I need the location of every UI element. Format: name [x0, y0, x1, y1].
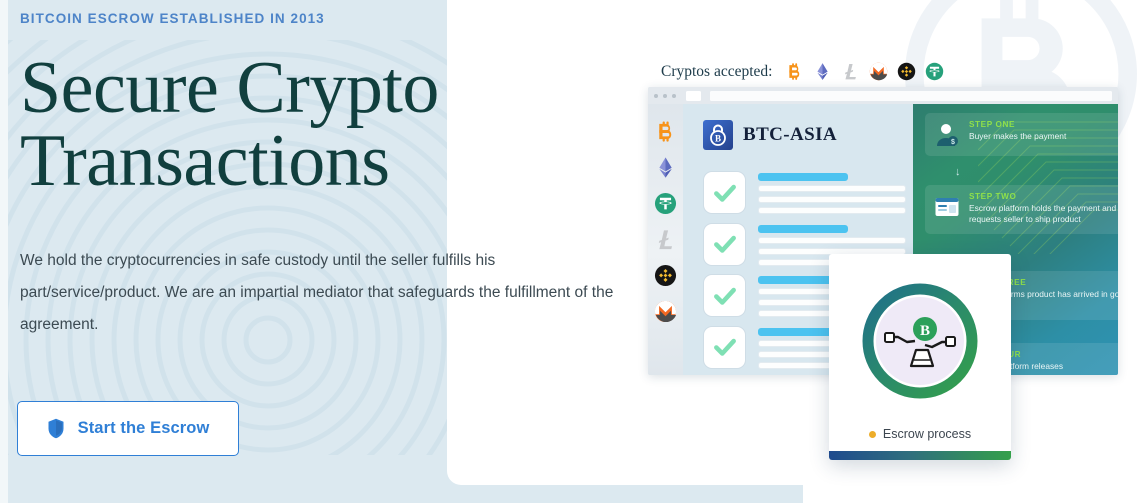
page-title: Secure Crypto Transactions: [20, 52, 580, 197]
browser-url-bar[interactable]: [710, 91, 1112, 101]
browser-tab[interactable]: [686, 91, 701, 101]
ethereum-icon: [813, 62, 832, 81]
row-heading-bar: [758, 225, 848, 233]
monero-icon: [869, 62, 888, 81]
card-accent-bar: [829, 451, 1011, 460]
app-brand: B BTC-ASIA: [703, 120, 837, 150]
start-escrow-label: Start the Escrow: [78, 419, 210, 438]
window-dot-3: [672, 94, 676, 98]
step-two-title: STEP TWO: [969, 192, 1118, 201]
window-dot-2: [663, 94, 667, 98]
start-escrow-button[interactable]: Start the Escrow: [17, 401, 239, 456]
escrow-card-footer: Escrow process: [829, 427, 1011, 441]
check-icon[interactable]: [703, 274, 746, 317]
headline-line-2: Transactions: [20, 125, 580, 198]
row-heading-bar: [758, 173, 848, 181]
sidebar-binance-icon[interactable]: [654, 264, 677, 287]
window-dot-1: [654, 94, 658, 98]
browser-window-icon: [934, 194, 960, 220]
svg-text:B: B: [920, 323, 930, 339]
svg-text:$: $: [951, 139, 955, 146]
list-item[interactable]: [703, 171, 906, 214]
escrow-ring-graphic: B: [859, 280, 981, 407]
check-icon[interactable]: [703, 171, 746, 214]
escrow-process-label: Escrow process: [883, 427, 971, 441]
litecoin-icon: [841, 62, 860, 81]
check-icon[interactable]: [703, 326, 746, 369]
hero-section: BITCOIN ESCROW ESTABLISHED IN 2013 Secur…: [0, 0, 1143, 503]
sidebar-litecoin-icon[interactable]: [654, 228, 677, 251]
binance-icon: [897, 62, 916, 81]
check-icon[interactable]: [703, 223, 746, 266]
svg-text:B: B: [715, 134, 721, 144]
bitcoin-icon: [785, 62, 804, 81]
step-two-text: Escrow platform holds the payment and re…: [969, 203, 1118, 226]
step-card-one: $ STEP ONE Buyer makes the payment: [925, 113, 1118, 156]
status-dot-icon: [869, 431, 876, 438]
hero-eyebrow: BITCOIN ESCROW ESTABLISHED IN 2013: [20, 11, 325, 26]
app-brand-name: BTC-ASIA: [743, 124, 837, 146]
browser-chrome: [648, 87, 1118, 104]
row-line: [758, 196, 906, 203]
sidebar-tether-icon[interactable]: [654, 192, 677, 215]
shield-icon: [47, 418, 65, 439]
escrow-process-card: B Escrow process: [829, 254, 1011, 460]
app-sidebar: [648, 104, 683, 375]
row-line: [758, 207, 906, 214]
cryptos-accepted-label: Cryptos accepted:: [661, 63, 772, 81]
tether-icon: [925, 62, 944, 81]
sidebar-monero-icon[interactable]: [654, 300, 677, 323]
step-card-two: STEP TWO Escrow platform holds the payme…: [925, 185, 1118, 234]
person-dollar-icon: $: [934, 122, 960, 148]
step-one-text: Buyer makes the payment: [969, 131, 1066, 142]
cryptos-accepted-row: Cryptos accepted:: [661, 62, 944, 81]
btc-asia-logo-icon: B: [703, 120, 733, 150]
step-arrow-1: ↓: [955, 166, 961, 178]
step-two-body: STEP TWO Escrow platform holds the payme…: [969, 192, 1118, 226]
headline-line-1: Secure Crypto: [20, 47, 439, 129]
row-line: [758, 237, 906, 244]
sidebar-ethereum-icon[interactable]: [654, 156, 677, 179]
step-one-body: STEP ONE Buyer makes the payment: [969, 120, 1066, 148]
step-one-title: STEP ONE: [969, 120, 1066, 129]
hero-description: We hold the cryptocurrencies in safe cus…: [20, 245, 625, 341]
placeholder-lines: [758, 171, 906, 214]
row-line: [758, 185, 906, 192]
sidebar-bitcoin-icon[interactable]: [654, 120, 677, 143]
left-edge-strip: [0, 0, 8, 503]
